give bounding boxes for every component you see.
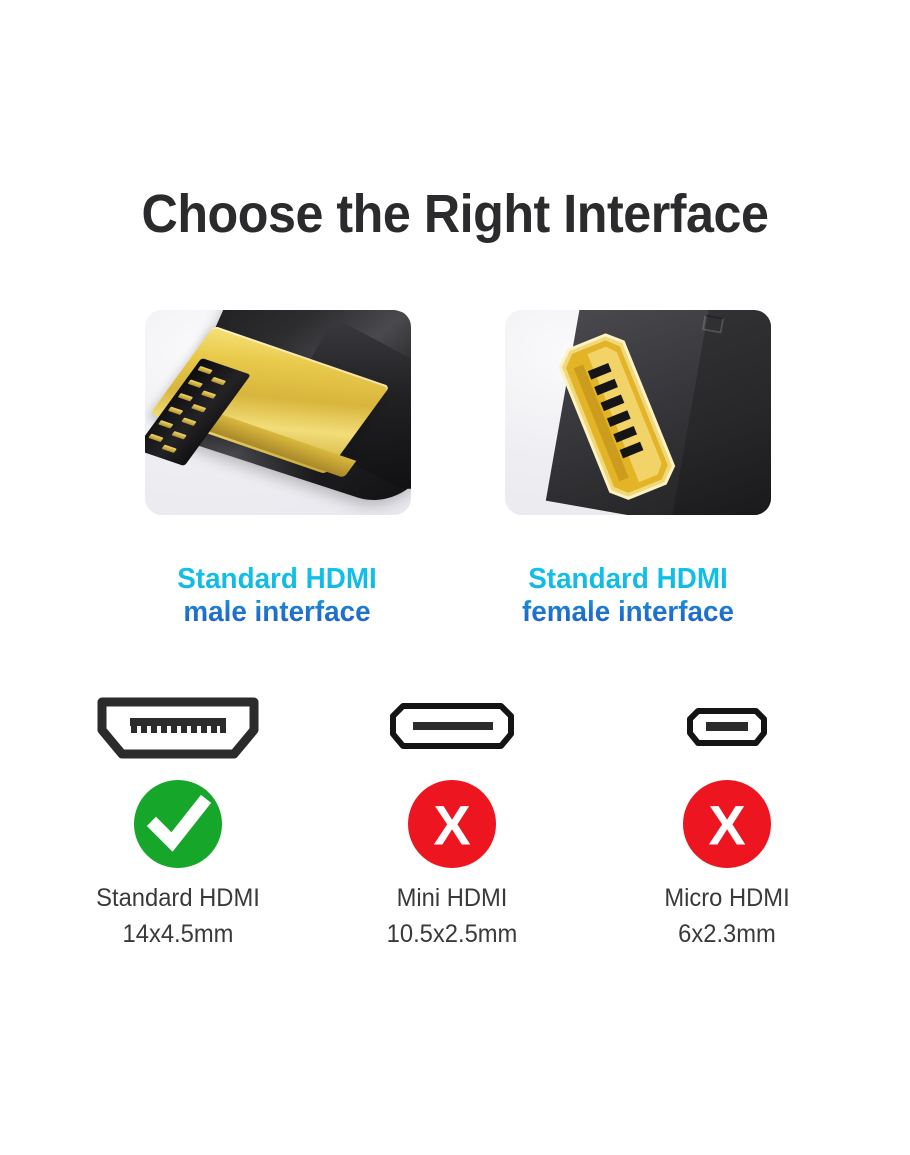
panel-background [145,310,411,515]
connector-name: Standard HDMI [45,880,311,916]
connector-comparison-grid: Standard HDMI 14x4.5mm X Mini HDMI 10.5x… [0,690,910,990]
port-socket [527,320,704,513]
infographic-page: Choose the Right Interface [0,0,910,1155]
connector-size: 10.5x2.5mm [319,916,585,952]
female-interface-caption: Standard HDMI female interface [465,563,791,629]
caption-line-2: male interface [114,596,440,629]
shape-slot [587,690,867,768]
cross-badge: X [679,776,775,872]
housing-emboss-mark [702,314,724,333]
hdmi-male-photo-panel [145,310,411,515]
comparison-column-standard-hdmi: Standard HDMI 14x4.5mm [38,690,318,952]
standard-hdmi-outline-icon [94,694,262,764]
cross-badge: X [404,776,500,872]
mini-hdmi-outline-icon [387,701,517,757]
shape-slot [38,690,318,768]
badge-slot [38,768,318,880]
connector-name: Mini HDMI [319,880,585,916]
connector-size: 14x4.5mm [45,916,311,952]
shape-slot [312,690,592,768]
page-title: Choose the Right Interface [32,183,878,245]
cross-badge-label: X [708,794,745,857]
port-socket-svg [527,320,704,513]
badge-slot: X [312,768,592,880]
comparison-column-mini-hdmi: X Mini HDMI 10.5x2.5mm [312,690,592,952]
male-interface-caption: Standard HDMI male interface [114,563,440,629]
caption-line-2: female interface [465,596,791,629]
connector-name: Micro HDMI [594,880,860,916]
photo-panel-row [0,310,910,518]
caption-line-1: Standard HDMI [465,563,791,596]
panel-background [505,310,771,515]
hdmi-female-photo-panel [505,310,771,515]
check-badge [130,776,226,872]
caption-line-1: Standard HDMI [114,563,440,596]
connector-size: 6x2.3mm [594,916,860,952]
comparison-column-micro-hdmi: X Micro HDMI 6x2.3mm [587,690,867,952]
caption-row: Standard HDMI male interface Standard HD… [0,563,910,643]
badge-slot: X [587,768,867,880]
micro-hdmi-outline-icon [685,705,769,753]
cross-badge-label: X [433,794,470,857]
